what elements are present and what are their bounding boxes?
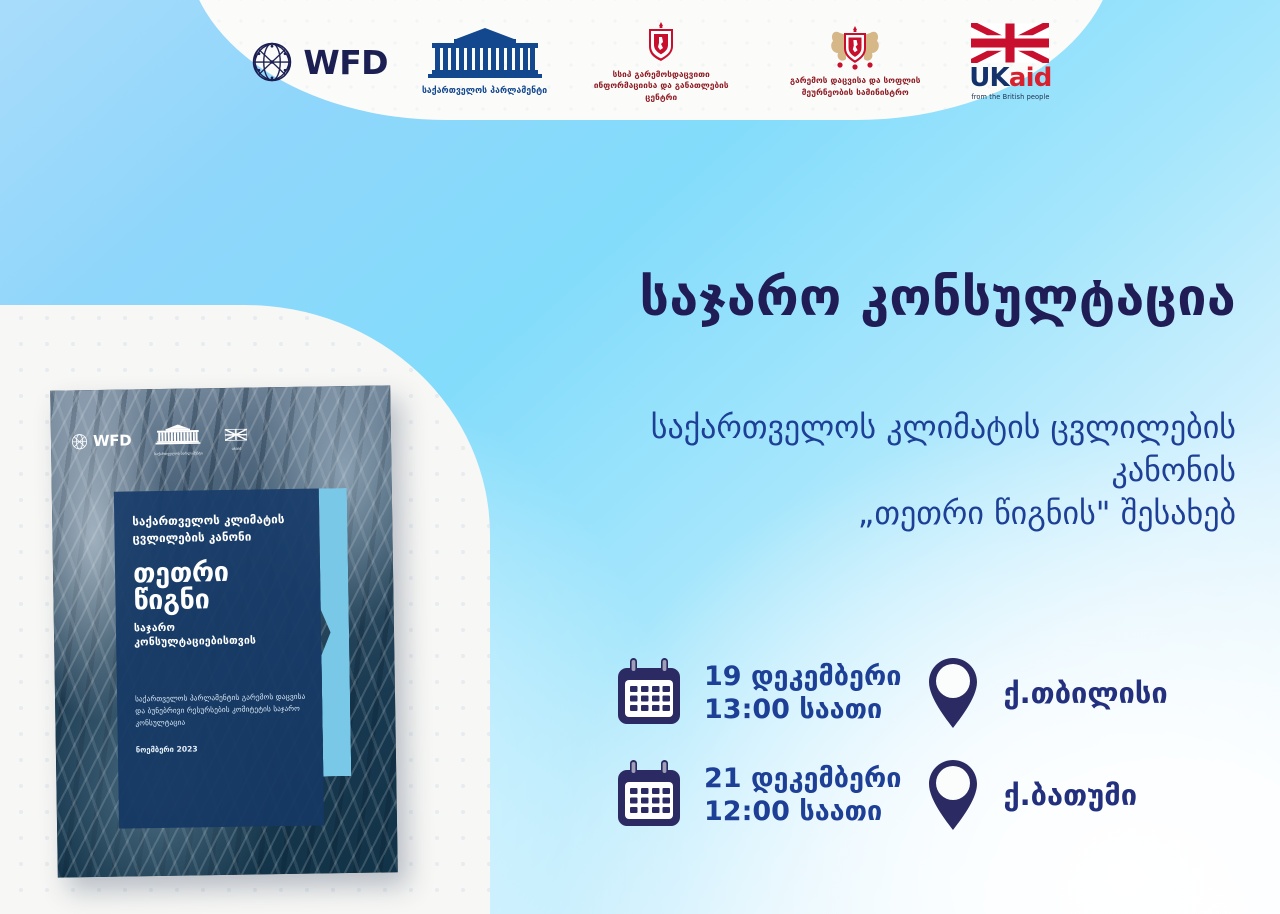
page-subtitle: საქართველოს კლიმატის ცვლილების კანონის „…: [446, 406, 1236, 535]
book-body-text: საქართველოს პარლამენტის გარემოს დაცვისა …: [135, 691, 307, 729]
wfd-globe-icon: [250, 40, 294, 84]
book-publication-date: ნოემბერი 2023: [136, 743, 307, 755]
white-paper-book-cover: WFD საქართველოს პარლამენტი ukaid: [50, 385, 398, 877]
event-location: ქ.ბათუმი: [1003, 778, 1137, 812]
wfd-logo-text: WFD: [303, 43, 388, 82]
map-pin-icon: [927, 757, 979, 833]
book-cover-text-panel: საქართველოს კლიმატის ცვლილების კანონი თე…: [114, 488, 324, 828]
event-datetime: 21 დეკემბერი 12:00 საათი: [704, 762, 901, 828]
event-location: ქ.თბილისი: [1003, 676, 1167, 710]
book-ukaid-logo: ukaid: [225, 426, 247, 452]
event-datetime: 19 დეკემბერი 13:00 საათი: [704, 660, 901, 726]
book-parliament-caption: საქართველოს პარლამენტი: [150, 451, 208, 457]
calendar-icon: [612, 758, 686, 832]
book-cover-logo-row: WFD საქართველოს პარლამენტი ukaid: [71, 420, 373, 459]
book-wfd-text: WFD: [93, 431, 132, 450]
event-row: 19 დეკემბერი 13:00 საათი ქ.თბილისი: [446, 655, 1236, 731]
parliament-building-icon: [149, 423, 207, 446]
book-title-line1: თეთრი: [133, 558, 304, 588]
event-time: 13:00 საათი: [704, 693, 901, 726]
calendar-icon: [612, 656, 686, 730]
union-jack-flag-icon: [225, 429, 247, 441]
subtitle-line-1: საქართველოს კლიმატის ცვლილების: [446, 406, 1236, 449]
book-title-line2: წიგნი: [133, 585, 304, 615]
event-list: 19 დეკემბერი 13:00 საათი ქ.თბილისი: [446, 655, 1236, 859]
book-ukaid-caption: ukaid: [225, 447, 247, 452]
wfd-globe-icon: [71, 433, 88, 450]
book-subtitle: საქართველოს კლიმატის ცვლილების კანონი: [132, 511, 304, 548]
map-pin-icon: [927, 655, 979, 731]
book-parliament-logo: საქართველოს პარლამენტი: [149, 423, 208, 457]
book-purpose-line2: კონსულტაციებისთვის: [134, 633, 305, 649]
book-wfd-logo: WFD: [71, 431, 132, 450]
subtitle-line-3: „თეთრი წიგნის" შესახებ: [446, 492, 1236, 535]
wfd-logo: WFD: [250, 40, 388, 84]
page-title: საჯარო კონსულტაცია: [446, 270, 1236, 327]
subtitle-line-2: კანონის: [446, 449, 1236, 492]
poster-main-content: საჯარო კონსულტაცია საქართველოს კლიმატის …: [446, 0, 1236, 914]
event-row: 21 დეკემბერი 12:00 საათი ქ.ბათუმი: [446, 757, 1236, 833]
event-time: 12:00 საათი: [704, 795, 901, 828]
event-date: 21 დეკემბერი: [704, 762, 901, 795]
event-date: 19 დეკემბერი: [704, 660, 901, 693]
